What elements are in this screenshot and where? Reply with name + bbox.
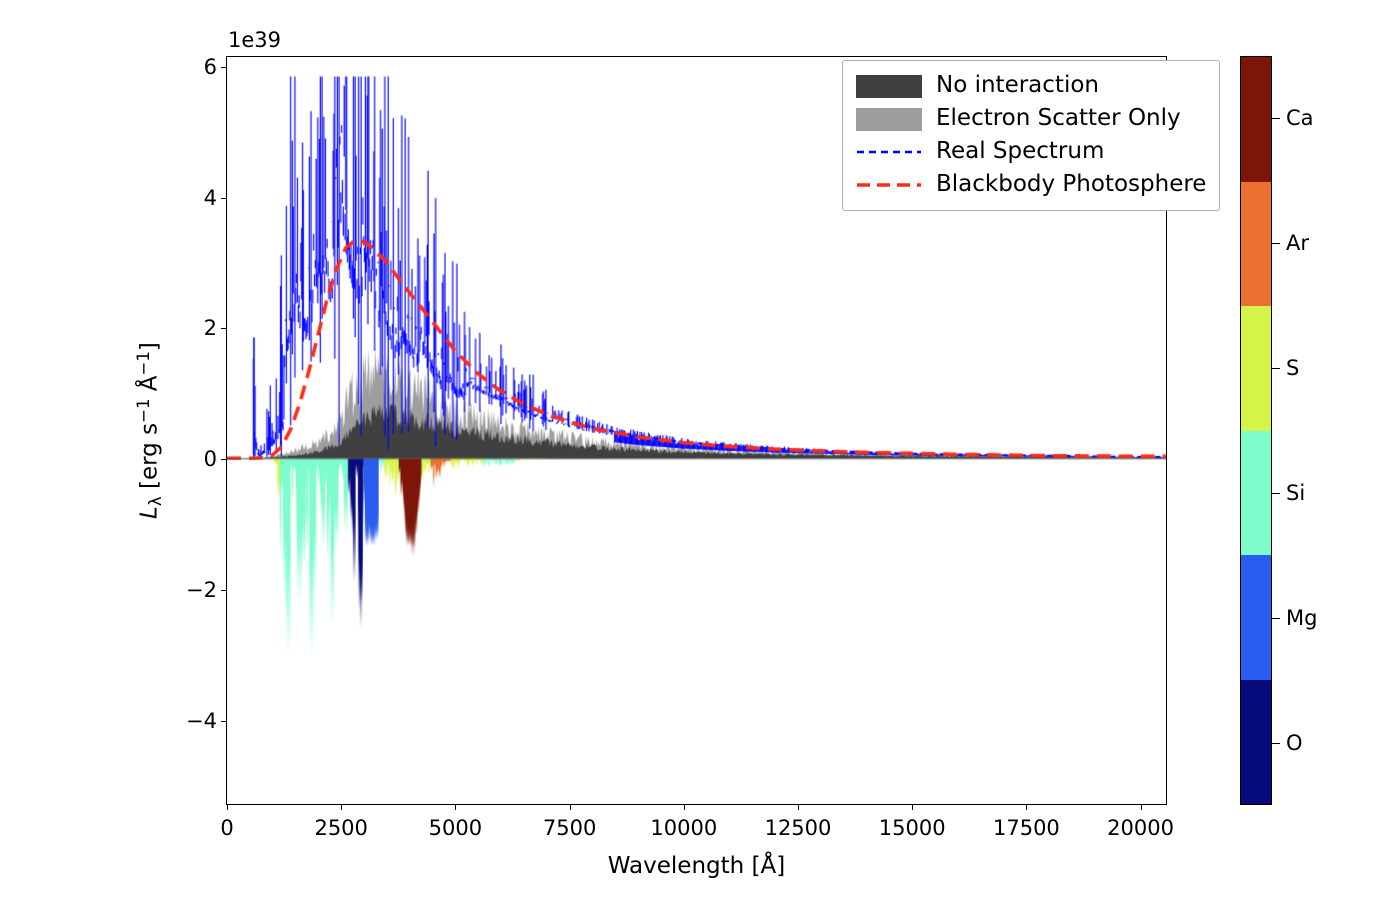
colorbar-segment-S: [1241, 306, 1271, 431]
y-tick-mark: [221, 198, 227, 199]
legend-key-1: [856, 104, 922, 134]
y-axis-label-exp-2: −1: [134, 351, 153, 375]
legend-key-2: [856, 137, 922, 167]
x-tick-label: 5000: [429, 816, 482, 840]
colorbar-label-Mg: Mg: [1286, 606, 1317, 630]
colorbar-label-Ar: Ar: [1286, 231, 1309, 255]
y-axis-label: Lλ [erg s−1 Å−1]: [134, 56, 165, 805]
legend-label: Blackbody Photosphere: [936, 173, 1206, 196]
y-axis-label-unit-b: Å: [137, 375, 163, 398]
x-tick-mark: [1141, 804, 1142, 810]
x-tick-mark: [570, 804, 571, 810]
y-axis-label-exp-1: −1: [134, 399, 153, 423]
x-tick-label: 10000: [650, 816, 717, 840]
legend-label: Electron Scatter Only: [936, 107, 1181, 130]
colorbar-tick-O: [1272, 743, 1280, 744]
legend-color-patch: [856, 75, 922, 98]
legend-dashed-line: [856, 170, 922, 200]
y-tick-mark: [221, 328, 227, 329]
colorbar-label-O: O: [1286, 731, 1303, 755]
legend-key-0: [856, 71, 922, 101]
colorbar-label-Ca: Ca: [1286, 106, 1314, 130]
y-axis-label-bracket-close: ]: [137, 342, 163, 351]
x-tick-mark: [1026, 804, 1027, 810]
legend-label: No interaction: [936, 74, 1099, 97]
element-colorbar: [1240, 56, 1272, 805]
y-tick-mark: [221, 459, 227, 460]
legend-entry-1: Electron Scatter Only: [856, 102, 1206, 135]
legend-entry-2: Real Spectrum: [856, 135, 1206, 168]
x-tick-label: 0: [220, 816, 233, 840]
x-tick-mark: [684, 804, 685, 810]
y-tick-mark: [221, 721, 227, 722]
colorbar-tick-Si: [1272, 493, 1280, 494]
colorbar-label-S: S: [1286, 356, 1299, 380]
figure-canvas: 1e39 6420−2−4 02500500075001000012500150…: [0, 0, 1392, 898]
x-tick-mark: [798, 804, 799, 810]
y-tick-label: 4: [204, 186, 217, 210]
y-axis-label-symbol: L: [137, 506, 163, 519]
x-tick-label: 7500: [543, 816, 596, 840]
y-axis-offset-text: 1e39: [228, 28, 281, 52]
y-axis-label-unit-a: [erg s: [137, 423, 163, 496]
y-tick-mark: [221, 67, 227, 68]
legend-entry-0: No interaction: [856, 69, 1206, 102]
legend-entry-3: Blackbody Photosphere: [856, 168, 1206, 201]
colorbar-segment-Mg: [1241, 555, 1271, 680]
x-tick-mark: [227, 804, 228, 810]
colorbar-segment-Si: [1241, 431, 1271, 556]
legend-dashed-line: [856, 137, 922, 167]
colorbar-segment-Ar: [1241, 182, 1271, 307]
x-tick-mark: [341, 804, 342, 810]
x-axis-label: Wavelength [Å]: [226, 853, 1167, 879]
colorbar-tick-S: [1272, 368, 1280, 369]
x-tick-label: 2500: [314, 816, 367, 840]
colorbar-tick-Mg: [1272, 618, 1280, 619]
y-axis-label-subscript: λ: [146, 496, 165, 506]
x-tick-label: 15000: [879, 816, 946, 840]
colorbar-segment-O: [1241, 680, 1271, 805]
x-tick-label: 20000: [1107, 816, 1174, 840]
y-tick-label: 0: [204, 447, 217, 471]
colorbar-tick-Ca: [1272, 118, 1280, 119]
y-tick-mark: [221, 590, 227, 591]
x-tick-mark: [455, 804, 456, 810]
legend-box: No interactionElectron Scatter OnlyReal …: [842, 60, 1220, 211]
colorbar-tick-Ar: [1272, 243, 1280, 244]
y-tick-label: 2: [204, 316, 217, 340]
x-tick-label: 12500: [765, 816, 832, 840]
figure-inner: 1e39 6420−2−4 02500500075001000012500150…: [60, 8, 1332, 882]
y-tick-label: −4: [186, 709, 217, 733]
y-tick-label: 6: [204, 55, 217, 79]
legend-key-3: [856, 170, 922, 200]
x-tick-mark: [912, 804, 913, 810]
colorbar-segment-Ca: [1241, 57, 1271, 182]
legend-color-patch: [856, 108, 922, 131]
legend-label: Real Spectrum: [936, 140, 1104, 163]
colorbar-label-Si: Si: [1286, 481, 1305, 505]
y-tick-label: −2: [186, 578, 217, 602]
x-tick-label: 17500: [993, 816, 1060, 840]
